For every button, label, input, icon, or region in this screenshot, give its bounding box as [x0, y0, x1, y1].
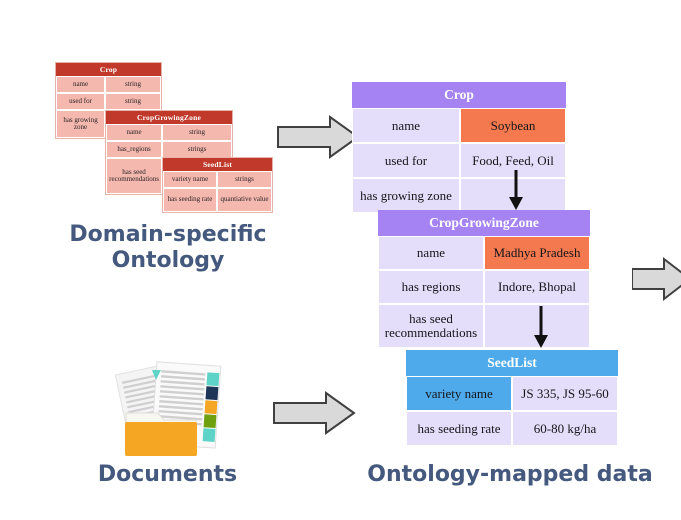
- table-row: has seeding rate 60-80 kg/ha: [406, 411, 618, 446]
- caption-domain-specific-ontology: Domain-specific Ontology: [38, 222, 298, 274]
- ontology-seed-title: SeedList: [163, 158, 272, 171]
- table-row: name Madhya Pradesh: [378, 236, 590, 270]
- ontology-seed-prop-0: variety name: [163, 171, 217, 188]
- mapped-crop-prop-2: has growing zone: [352, 178, 460, 213]
- ontology-zone-type-0: string: [162, 124, 232, 141]
- mapped-crop-prop-1: used for: [352, 143, 460, 178]
- mapped-zone-value-0: Madhya Pradesh: [484, 236, 590, 270]
- mapped-seed-prop-1: has seeding rate: [406, 411, 512, 446]
- mapped-seed-value-0: JS 335, JS 95-60: [512, 376, 618, 411]
- right-block-arrow-icon: [272, 390, 356, 436]
- ontology-crop-prop-2: has growing zone: [56, 110, 105, 138]
- documents-folder-icon: [112, 358, 238, 458]
- diagram-canvas: Crop name string used for string has gro…: [0, 0, 681, 520]
- ontology-crop-prop-1: used for: [56, 93, 105, 110]
- ontology-zone-prop-2: has seed recommendations: [106, 158, 162, 194]
- caption-ontology-mapped-data: Ontology-mapped data: [345, 462, 675, 488]
- right-block-arrow-icon: [632, 256, 681, 302]
- down-arrow-icon: [530, 306, 552, 350]
- mapped-table-cropgrowingzone: CropGrowingZone name Madhya Pradesh has …: [378, 210, 590, 348]
- table-row: name string: [106, 124, 232, 141]
- table-row: has seeding rate quantiative value: [163, 188, 272, 212]
- table-row: has growing zone: [352, 178, 566, 213]
- down-arrow-icon: [505, 170, 527, 212]
- table-row: used for string: [56, 93, 161, 110]
- ontology-crop-type-1: string: [105, 93, 161, 110]
- mapped-crop-prop-0: name: [352, 108, 460, 143]
- table-row: variety name JS 335, JS 95-60: [406, 376, 618, 411]
- table-row: name Soybean: [352, 108, 566, 143]
- ontology-crop-prop-0: name: [56, 76, 105, 93]
- table-row: has_regions strings: [106, 141, 232, 158]
- mapped-zone-prop-2: has seed recommendations: [378, 304, 484, 348]
- table-row: used for Food, Feed, Oil: [352, 143, 566, 178]
- mapped-seed-title: SeedList: [406, 350, 618, 376]
- mapped-crop-title: Crop: [352, 82, 566, 108]
- table-row: has seed recommendations: [378, 304, 590, 348]
- mapped-zone-value-1: Indore, Bhopal: [484, 270, 590, 304]
- mapped-crop-value-0: Soybean: [460, 108, 566, 143]
- ontology-seed-prop-1: has seeding rate: [163, 188, 217, 212]
- ontology-crop-title: Crop: [56, 63, 161, 76]
- ontology-crop-type-0: string: [105, 76, 161, 93]
- ontology-zone-prop-0: name: [106, 124, 162, 141]
- mapped-table-crop: Crop name Soybean used for Food, Feed, O…: [352, 82, 566, 213]
- ontology-table-seedlist: SeedList variety name strings has seedin…: [162, 157, 273, 213]
- caption-documents: Documents: [60, 462, 275, 488]
- table-row: name string: [56, 76, 161, 93]
- table-row: variety name strings: [163, 171, 272, 188]
- mapped-zone-title: CropGrowingZone: [378, 210, 590, 236]
- mapped-seed-value-1: 60-80 kg/ha: [512, 411, 618, 446]
- ontology-seed-type-0: strings: [217, 171, 272, 188]
- ontology-zone-type-1: strings: [162, 141, 232, 158]
- mapped-table-seedlist: SeedList variety name JS 335, JS 95-60 h…: [406, 350, 618, 446]
- mapped-zone-prop-1: has regions: [378, 270, 484, 304]
- ontology-zone-prop-1: has_regions: [106, 141, 162, 158]
- right-block-arrow-icon: [276, 114, 360, 160]
- table-row: has regions Indore, Bhopal: [378, 270, 590, 304]
- mapped-seed-prop-0: variety name: [406, 376, 512, 411]
- mapped-zone-prop-0: name: [378, 236, 484, 270]
- ontology-zone-title: CropGrowingZone: [106, 111, 232, 124]
- ontology-seed-type-1: quantiative value: [217, 188, 272, 212]
